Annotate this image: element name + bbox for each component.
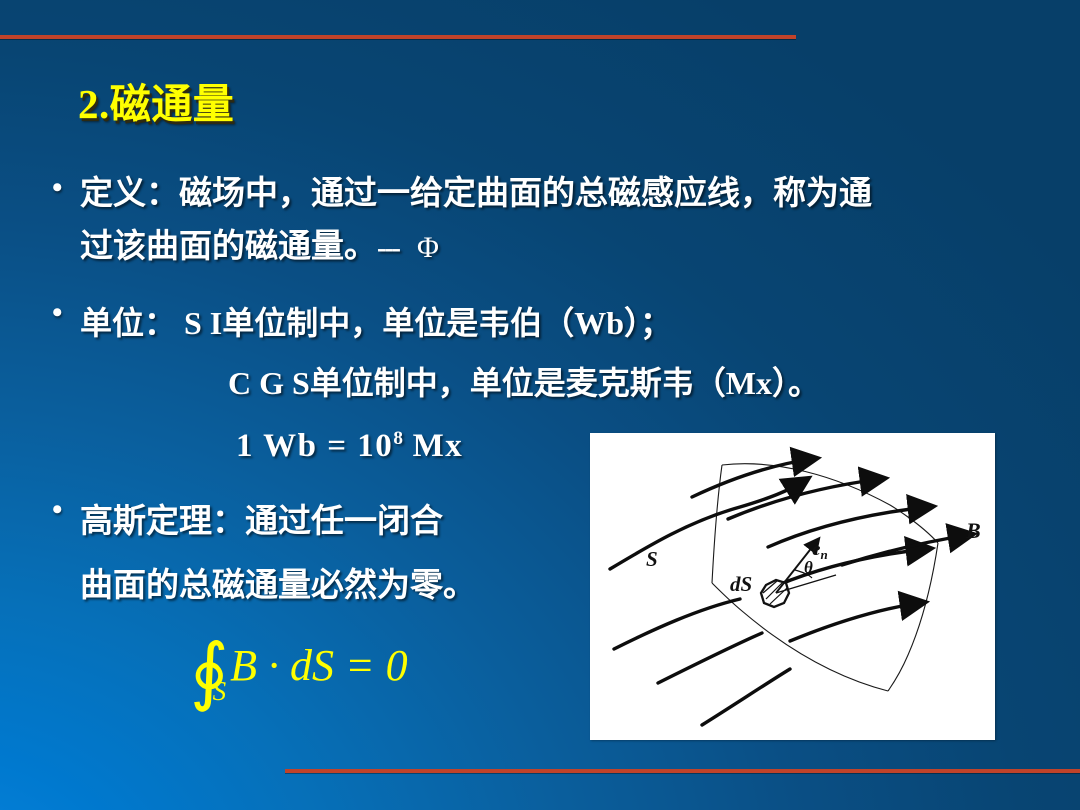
figure-label-surface: S — [646, 547, 658, 571]
figure-magnetic-flux: S dS en θ B — [590, 433, 995, 740]
bullet-marker-icon: • — [52, 490, 80, 530]
integral-subscript: S — [213, 676, 227, 706]
top-accent-rule — [0, 35, 796, 39]
bullet-gauss-theorem: • 高斯定理：通过任一闭合 曲面的总磁通量必然为零。 — [52, 490, 476, 618]
bullet-gauss-line-1: 高斯定理：通过任一闭合 — [80, 490, 476, 554]
bullet-marker-icon: • — [52, 168, 80, 208]
figure-label-angle: θ — [804, 558, 813, 577]
bullet-units-line-2: C G S单位制中，单位是麦克斯韦（Mx）。 — [80, 353, 820, 413]
bullet-units-line-1: 单位： S I单位制中，单位是韦伯（Wb）； — [80, 293, 820, 353]
page-title: 2.磁通量 — [78, 70, 234, 130]
definition-dashes: --- — [377, 233, 399, 264]
flux-symbol: Φ — [399, 231, 439, 264]
equation-wb-rhs: Mx — [403, 428, 463, 464]
equation-wb-lhs: 1 Wb = 10 — [236, 428, 393, 464]
equation-wb-conversion: 1 Wb = 108 Mx — [236, 428, 463, 465]
bullet-marker-icon: • — [52, 293, 80, 333]
bullet-definition-body: 定义：磁场中，通过一给定曲面的总磁感应线，称为通 过该曲面的磁通量。---Φ — [80, 168, 872, 275]
equation-wb-exponent: 8 — [393, 428, 403, 449]
gauss-expression: B · dS = 0 — [230, 641, 408, 690]
bullet-units: • 单位： S I单位制中，单位是韦伯（Wb）； C G S单位制中，单位是麦克… — [52, 293, 820, 413]
bullet-gauss-line-2: 曲面的总磁通量必然为零。 — [80, 554, 476, 618]
bottom-accent-rule — [285, 769, 1080, 773]
slide-canvas: 2.磁通量 • 定义：磁场中，通过一给定曲面的总磁感应线，称为通 过该曲面的磁通… — [0, 0, 1080, 810]
bullet-gauss-body: 高斯定理：通过任一闭合 曲面的总磁通量必然为零。 — [80, 490, 476, 618]
figure-label-normal: en — [812, 539, 828, 562]
bullet-definition: • 定义：磁场中，通过一给定曲面的总磁感应线，称为通 过该曲面的磁通量。---Φ — [52, 168, 872, 275]
figure-label-element: dS — [730, 572, 752, 596]
bullet-definition-line-2: 过该曲面的磁通量。---Φ — [80, 221, 872, 275]
bullet-definition-line-2-text: 过该曲面的磁通量。 — [80, 229, 377, 265]
figure-label-field: B — [965, 518, 981, 543]
formula-gauss-flux: ∮SB · dS = 0 — [190, 635, 408, 709]
bullet-units-body: 单位： S I单位制中，单位是韦伯（Wb）； C G S单位制中，单位是麦克斯韦… — [80, 293, 820, 413]
bullet-definition-line-1: 定义：磁场中，通过一给定曲面的总磁感应线，称为通 — [80, 168, 872, 221]
